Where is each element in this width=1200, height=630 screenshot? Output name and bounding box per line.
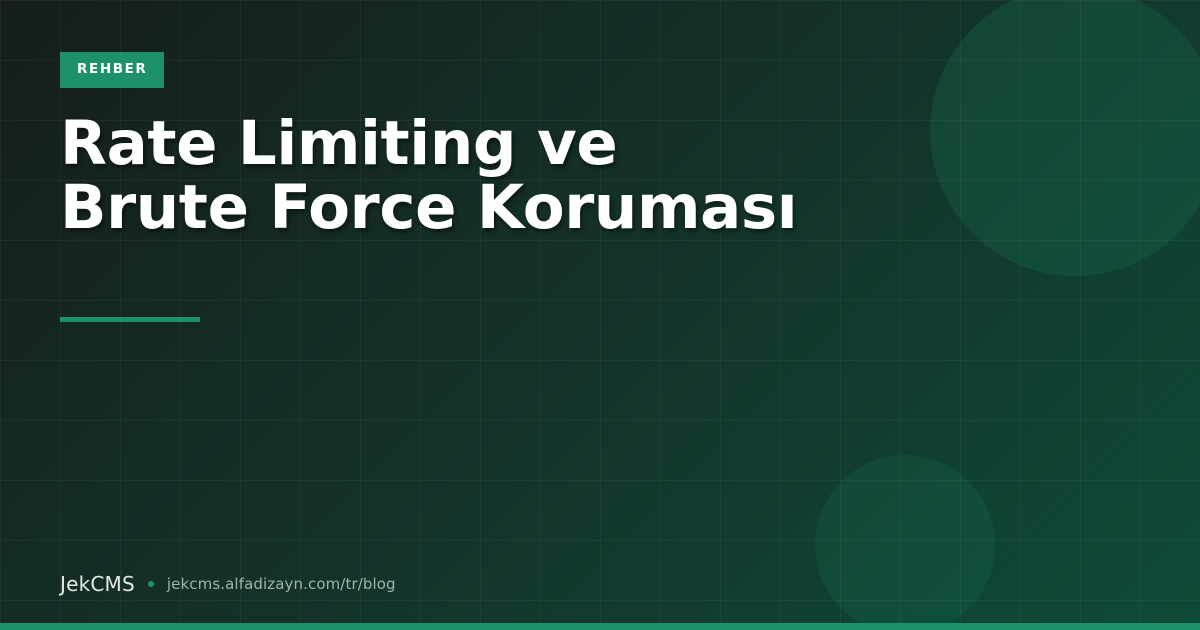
title-line-1: Rate Limiting ve bbox=[60, 112, 860, 176]
accent-rule bbox=[60, 317, 200, 322]
card-content: REHBER Rate Limiting ve Brute Force Koru… bbox=[0, 0, 1200, 630]
og-share-card: REHBER Rate Limiting ve Brute Force Koru… bbox=[0, 0, 1200, 630]
bottom-accent-bar bbox=[0, 623, 1200, 630]
footer: JekCMS jekcms.alfadizayn.com/tr/blog bbox=[60, 572, 396, 596]
title-line-2: Brute Force Koruması bbox=[60, 176, 860, 240]
brand-name: JekCMS bbox=[60, 572, 135, 596]
dot-icon bbox=[148, 581, 154, 587]
page-title: Rate Limiting ve Brute Force Koruması bbox=[60, 112, 860, 240]
site-url: jekcms.alfadizayn.com/tr/blog bbox=[167, 575, 396, 593]
category-badge: REHBER bbox=[60, 52, 164, 88]
